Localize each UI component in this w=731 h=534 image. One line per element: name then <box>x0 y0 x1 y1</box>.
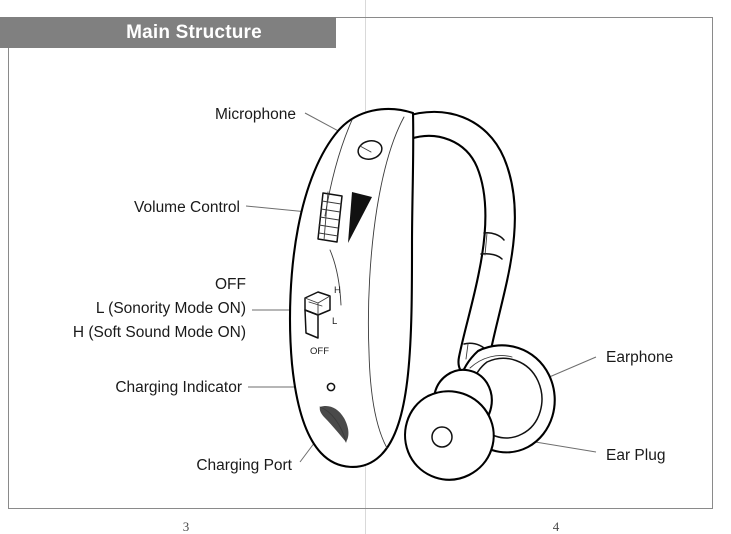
hearing-aid-diagram: Microphone Volume Control OFF L (Sonorit… <box>0 0 731 534</box>
ear-plug-icon <box>405 391 494 479</box>
switch-mark-off: OFF <box>310 346 329 357</box>
hearing-aid-body <box>290 109 413 467</box>
page-number-right: 4 <box>553 519 560 534</box>
callout-mode-soft-sound: H (Soft Sound Mode ON) <box>73 324 246 341</box>
callout-charging-port: Charging Port <box>196 457 292 474</box>
callout-mode-sonority: L (Sonority Mode ON) <box>96 300 246 317</box>
callout-microphone: Microphone <box>215 106 296 123</box>
switch-mark-l: L <box>332 316 337 327</box>
callout-mode-off: OFF <box>215 276 246 293</box>
callout-charging-indicator: Charging Indicator <box>115 379 242 396</box>
page-number-left: 3 <box>183 519 190 534</box>
callout-earphone: Earphone <box>606 349 673 366</box>
callout-volume-control: Volume Control <box>134 199 240 216</box>
ear-hook-icon <box>404 112 515 378</box>
manual-page: Main Structure Microphone Volume Control… <box>0 0 731 534</box>
callout-ear-plug: Ear Plug <box>606 447 665 464</box>
switch-mark-h: H <box>334 285 341 296</box>
